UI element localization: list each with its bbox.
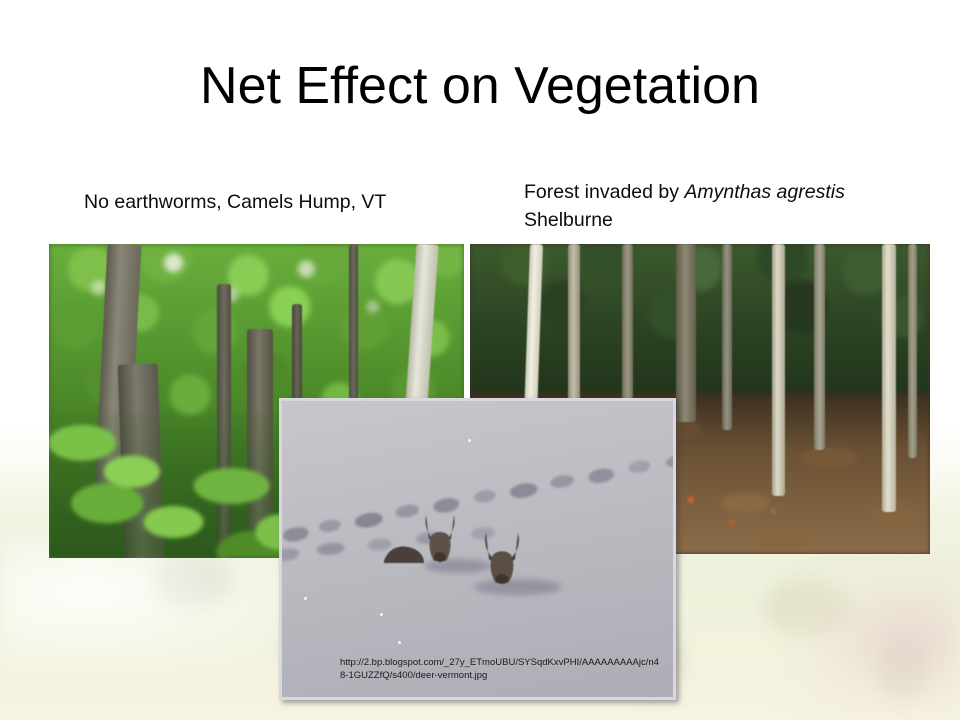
right-photo-pale-trunk — [772, 244, 785, 496]
right-photo-trunk — [676, 244, 696, 422]
caption-right-prefix: Forest invaded by — [524, 181, 684, 203]
snow-speck — [304, 597, 307, 600]
caption-left-text: No earthworms, Camels Hump, VT — [84, 191, 386, 213]
right-photo-trunk — [722, 244, 732, 430]
right-photo-pale-trunk — [882, 244, 896, 512]
background-light-patch — [0, 540, 290, 670]
slide: Net Effect on Vegetation No earthworms, … — [0, 0, 960, 720]
caption-right: Forest invaded by Amynthas agrestis Shel… — [524, 179, 924, 234]
deer-partial-body — [382, 543, 426, 565]
caption-left: No earthworms, Camels Hump, VT — [84, 189, 386, 217]
snow-speck — [398, 641, 401, 644]
page-title: Net Effect on Vegetation — [0, 58, 960, 115]
photo-deer-in-snow[interactable]: http://2.bp.blogspot.com/_27y_ETmoUBU/SY… — [279, 398, 676, 700]
background-warm-patch — [790, 560, 960, 720]
deer-photo-source-url: http://2.bp.blogspot.com/_27y_ETmoUBU/SY… — [340, 657, 660, 683]
right-photo-trunk — [814, 244, 825, 450]
deer-head — [480, 531, 524, 585]
deer-head — [420, 513, 460, 563]
left-photo-trunk — [349, 244, 358, 424]
right-photo-trunk — [908, 244, 917, 458]
caption-right-species-name: Amynthas agrestis — [684, 181, 844, 203]
caption-right-location: Shelburne — [524, 209, 613, 231]
snow-speck — [380, 613, 383, 616]
snow-speck — [468, 439, 471, 442]
